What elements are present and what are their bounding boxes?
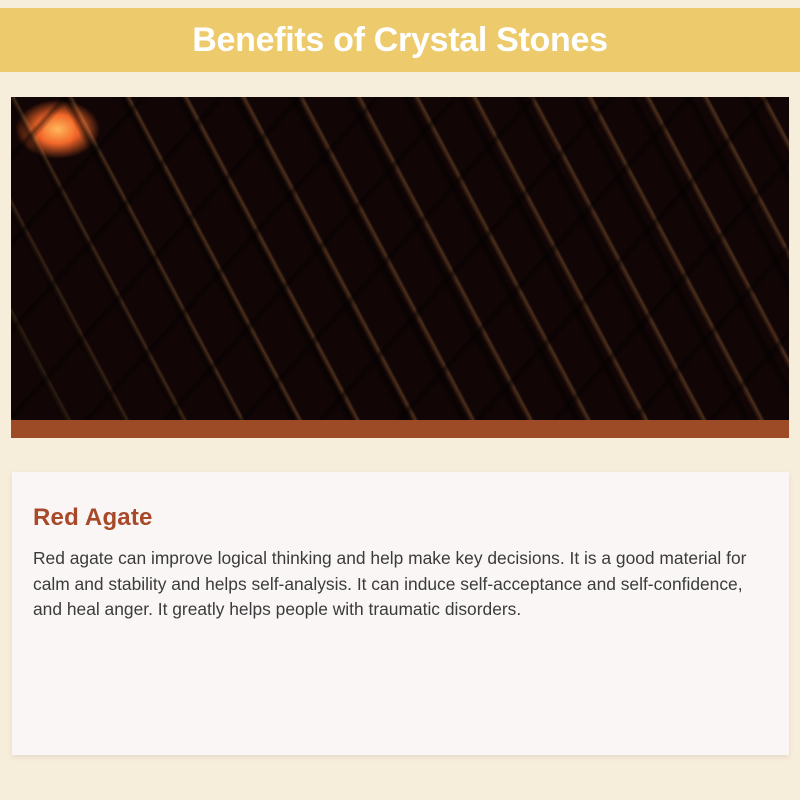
hero-image-container bbox=[11, 97, 789, 438]
hero-bottom-band bbox=[11, 420, 789, 438]
stone-name-heading: Red Agate bbox=[33, 506, 153, 530]
header-banner: Benefits of Crystal Stones bbox=[0, 8, 800, 72]
page-root: Benefits of Crystal Stones Red Agate Red… bbox=[0, 0, 800, 800]
red-agate-photo bbox=[11, 97, 789, 420]
stone-description-text: Red agate can improve logical thinking a… bbox=[33, 546, 759, 623]
description-card: Red Agate Red agate can improve logical … bbox=[12, 472, 789, 755]
photo-sheen-overlay bbox=[11, 97, 789, 420]
page-title: Benefits of Crystal Stones bbox=[192, 23, 607, 57]
